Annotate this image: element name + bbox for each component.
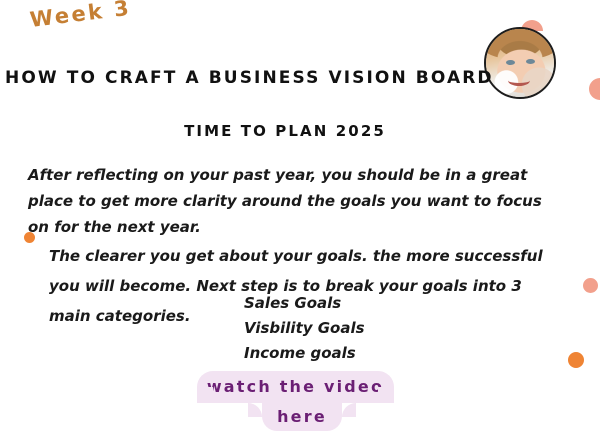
avatar-hair bbox=[484, 27, 556, 59]
dot-salmon-icon bbox=[583, 278, 598, 293]
list-item: Sales Goals bbox=[244, 291, 365, 316]
list-item: Income goals bbox=[244, 341, 365, 366]
avatar-smile bbox=[508, 75, 530, 86]
avatar-eye-right bbox=[526, 59, 535, 64]
half-circle-right-salmon-icon bbox=[589, 78, 600, 100]
page-title: HOW TO CRAFT A BUSINESS VISION BOARD bbox=[5, 68, 494, 88]
goal-category-list: Sales Goals Visbility Goals Income goals bbox=[244, 291, 365, 366]
avatar-photo bbox=[486, 29, 554, 97]
dot-orange-icon bbox=[568, 352, 584, 368]
watch-video-button-line-1[interactable]: watch the video bbox=[197, 371, 394, 403]
avatar-eye-left bbox=[506, 60, 515, 65]
watch-video-button[interactable]: watch the video here bbox=[197, 371, 394, 431]
week-label: Week 3 bbox=[29, 0, 133, 32]
vision-board-slide: Week 3 HOW TO CRAFT A BUSINESS VISION BO… bbox=[0, 0, 600, 444]
watch-video-button-line-2[interactable]: here bbox=[262, 403, 342, 431]
list-item: Visbility Goals bbox=[244, 316, 365, 341]
avatar bbox=[484, 27, 556, 99]
bullet-dot-icon bbox=[24, 232, 35, 243]
page-subtitle: TIME TO PLAN 2025 bbox=[0, 122, 570, 140]
